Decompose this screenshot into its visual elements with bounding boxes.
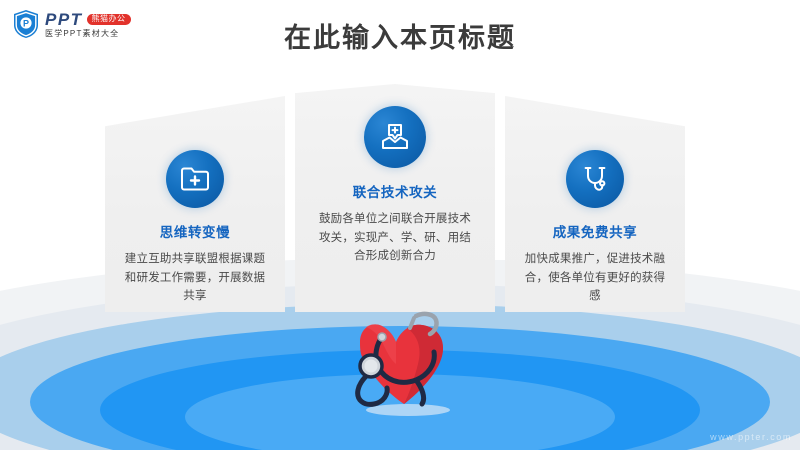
- feature-card-1[interactable]: 思维转变慢 建立互助共享联盟根据课题和研发工作需要，开展数据共享: [105, 96, 285, 312]
- heart-with-stethoscope-illustration: [330, 306, 480, 418]
- card-2-heading: 联合技术攻关: [353, 181, 438, 201]
- card-2-body: 鼓励各单位之间联合开展技术攻关，实现产、学、研、用结合形成创新合力: [315, 210, 475, 266]
- card-3-content: 成果免费共享 加快成果推广，促进技术融合，使各单位有更好的获得感: [505, 150, 685, 306]
- feature-card-2[interactable]: 联合技术攻关 鼓励各单位之间联合开展技术攻关，实现产、学、研、用结合形成创新合力: [295, 84, 495, 312]
- watermark: www.ppter.com: [710, 432, 792, 442]
- card-1-body: 建立互助共享联盟根据课题和研发工作需要，开展数据共享: [121, 250, 269, 306]
- feature-card-3[interactable]: 成果免费共享 加快成果推广，促进技术融合，使各单位有更好的获得感: [505, 96, 685, 312]
- page-title: 在此输入本页标题: [0, 16, 800, 55]
- card-1-heading: 思维转变慢: [160, 221, 231, 241]
- hospital-plus-icon: [364, 106, 426, 168]
- card-3-body: 加快成果推广，促进技术融合，使各单位有更好的获得感: [521, 250, 669, 306]
- stethoscope-icon: [566, 150, 624, 208]
- card-2-content: 联合技术攻关 鼓励各单位之间联合开展技术攻关，实现产、学、研、用结合形成创新合力: [295, 106, 495, 266]
- card-3-heading: 成果免费共享: [553, 221, 638, 241]
- card-1-content: 思维转变慢 建立互助共享联盟根据课题和研发工作需要，开展数据共享: [105, 150, 285, 306]
- folder-plus-icon: [166, 150, 224, 208]
- slide-canvas: P PPT 熊猫办公 医学PPT素材大全 在此输入本页标题 思维转变慢 建立互助…: [0, 0, 800, 450]
